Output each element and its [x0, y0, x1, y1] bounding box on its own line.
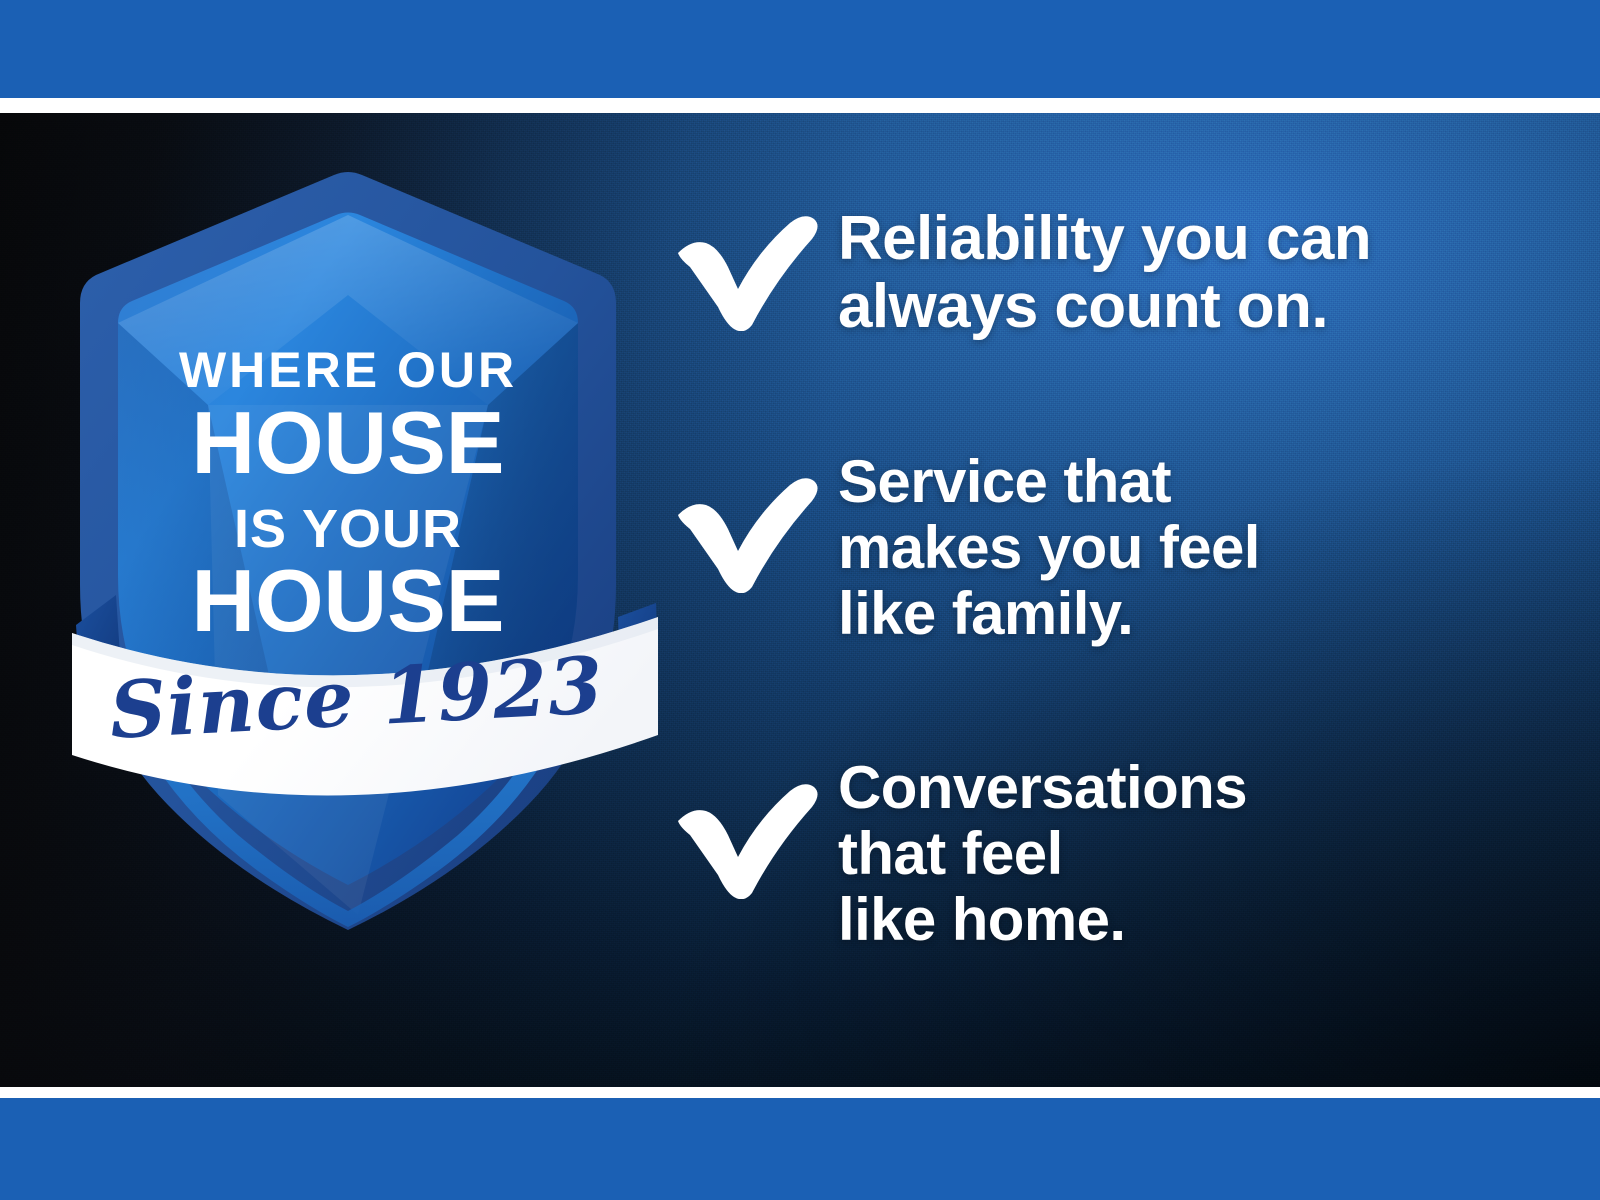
- shield-line-2: HOUSE: [192, 393, 505, 492]
- list-item-label: Conversations that feel like home.: [838, 755, 1552, 953]
- list-item: Service that makes you feel like family.: [672, 449, 1552, 647]
- top-brand-band: [0, 0, 1600, 98]
- promo-poster: WHERE OUR HOUSE IS YOUR HOUSE Since 1923…: [0, 0, 1600, 1200]
- list-item: Reliability you can always count on.: [672, 205, 1552, 341]
- list-item-label: Service that makes you feel like family.: [838, 449, 1552, 647]
- check-icon: [672, 475, 822, 593]
- benefits-list: Reliability you can always count on. Ser…: [672, 205, 1552, 953]
- list-item: Conversations that feel like home.: [672, 755, 1552, 953]
- list-item-label: Reliability you can always count on.: [838, 205, 1552, 341]
- check-icon: [672, 213, 822, 331]
- check-icon: [672, 781, 822, 899]
- shield-line-4: HOUSE: [192, 551, 505, 650]
- bottom-brand-band: [0, 1098, 1600, 1200]
- shield-line-3: IS YOUR: [234, 499, 462, 559]
- shield-badge: WHERE OUR HOUSE IS YOUR HOUSE Since 1923: [58, 155, 638, 955]
- shield-line-1: WHERE OUR: [179, 342, 517, 398]
